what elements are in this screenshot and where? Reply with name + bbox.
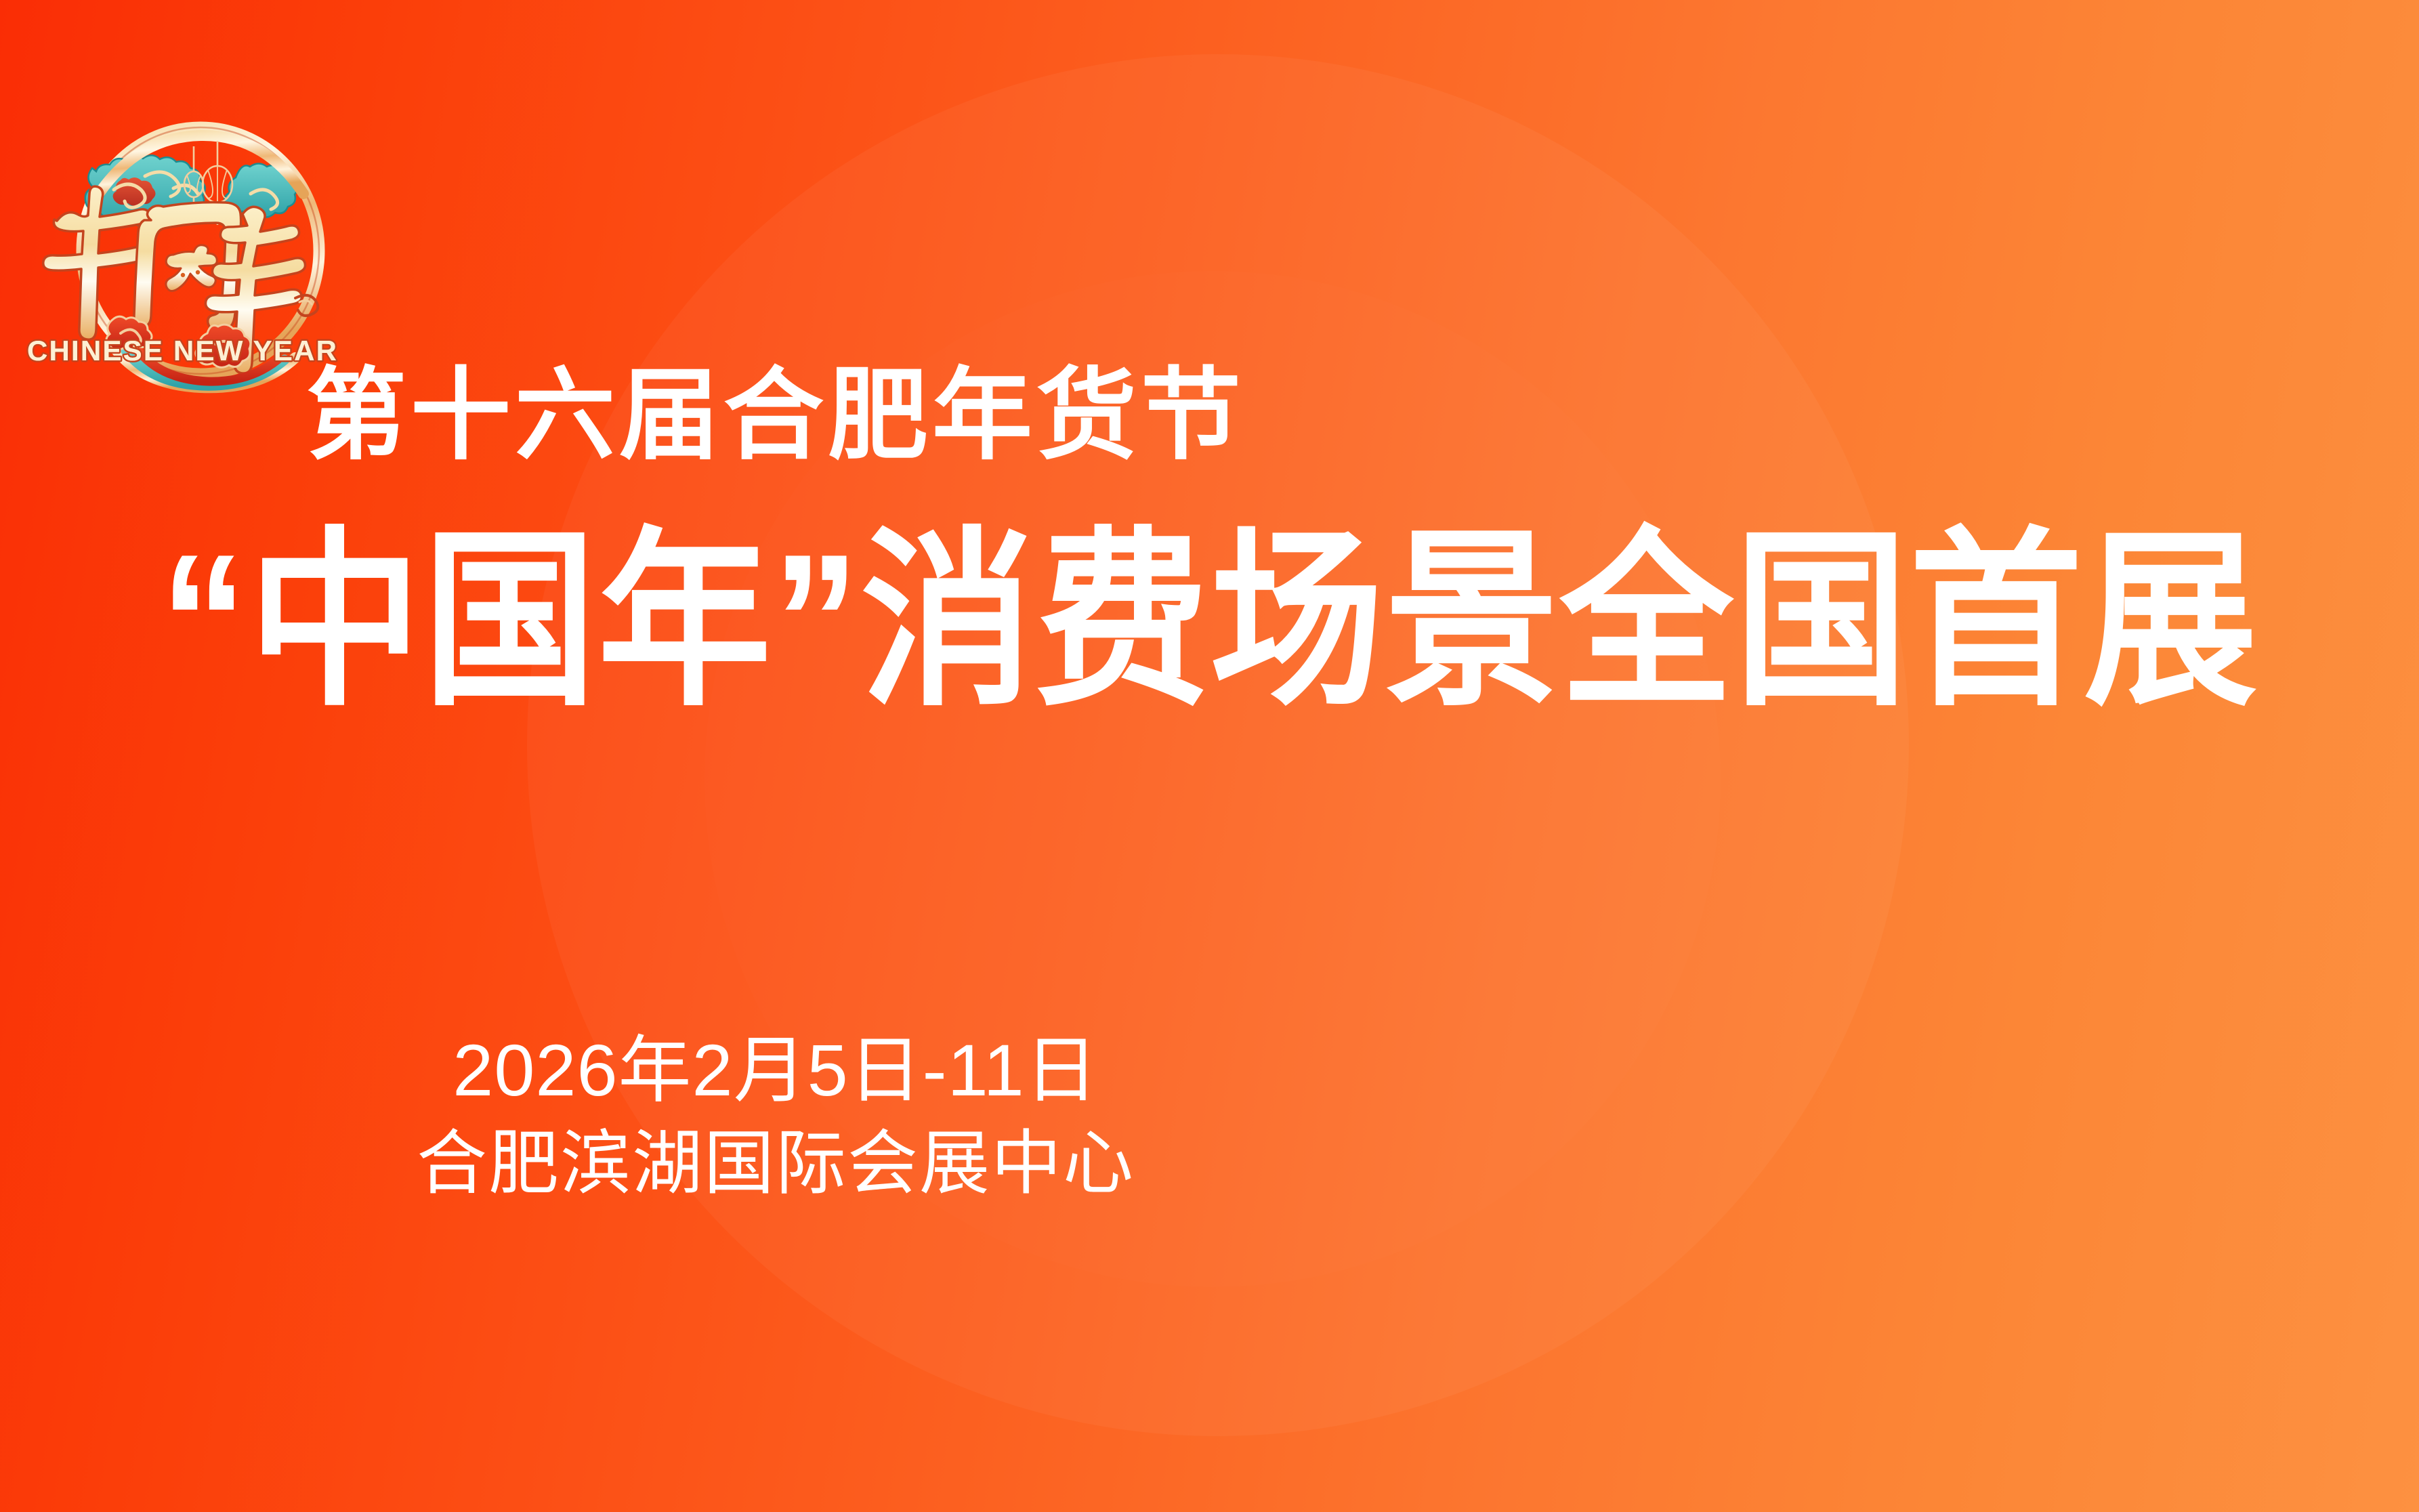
chinese-new-year-logo: CHINESE NEW YEAR CHINESE NEW YEAR bbox=[12, 81, 392, 406]
page-title: “中国年”消费场景全国首展 bbox=[0, 515, 2419, 728]
poster-canvas: CHINESE NEW YEAR CHINESE NEW YEAR 第十六届合肥… bbox=[0, 0, 2419, 1512]
event-venue: 合肥滨湖国际会展中心 bbox=[0, 1125, 1551, 1203]
background-circle-decoration bbox=[527, 54, 1909, 1436]
event-date: 2026年2月5日-11日 bbox=[0, 1030, 1551, 1112]
event-subtitle: 第十六届合肥年货节 bbox=[0, 362, 1551, 470]
